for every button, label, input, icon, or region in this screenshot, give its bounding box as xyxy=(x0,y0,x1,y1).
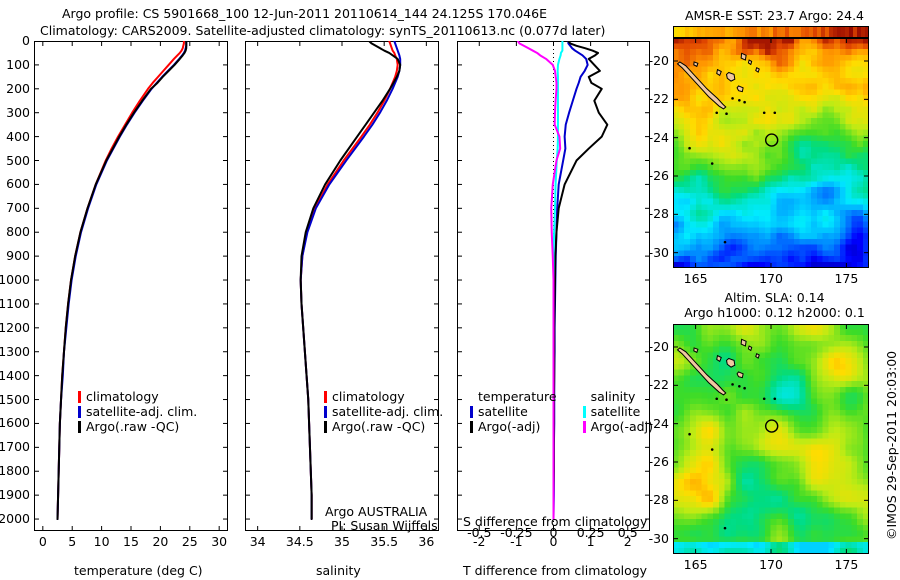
sla-map-x-ticks: 165170175 xyxy=(0,0,900,580)
map-lon-tick-label: 165 xyxy=(684,557,708,572)
map-lon-tick-label: 170 xyxy=(759,557,783,572)
map-lon-tick-label: 175 xyxy=(834,557,858,572)
imos-credit: ©IMOS 29-Sep-2011 20:03:00 xyxy=(884,351,899,540)
